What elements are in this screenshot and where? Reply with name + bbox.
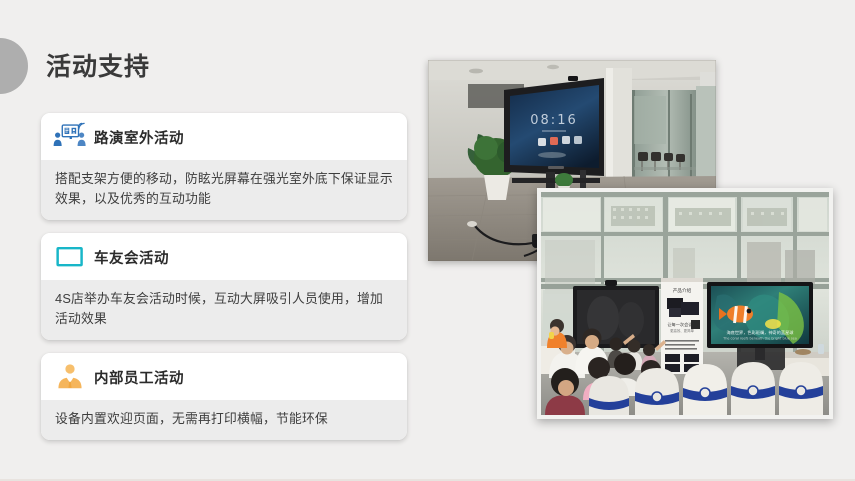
feature-card-body: 设备内置欢迎页面，无需再打印横幅，节能环保 [41,400,407,440]
left-edge-tab [0,38,28,94]
page-title: 活动支持 [46,50,150,84]
svg-text:海底世界，色彩斑斓，神奇的蓝星球: 海底世界，色彩斑斓，神奇的蓝星球 [726,329,794,336]
feature-card-header: 路演室外活动 [41,113,407,160]
feature-card-body: 搭配支架方便的移动，防眩光屏幕在强光室外底下保证显示效果，以及优秀的互动功能 [41,160,407,220]
svg-text:更高效、更简单: 更高效、更简单 [670,328,694,333]
svg-text:08:16: 08:16 [530,113,577,128]
feature-card-header: 车友会活动 [41,233,407,280]
slide-canvas: 活动支持 [0,0,855,481]
svg-text:The coral reefs beneath the br: The coral reefs beneath the bright blue … [722,337,797,341]
svg-text:产品介绍: 产品介绍 [673,287,692,294]
feature-card-title: 车友会活动 [94,247,169,268]
event-audience-photo: 产品介绍 让每一次会议都 更高效、更简单 [537,188,833,419]
feature-card-title: 内部员工活动 [94,367,184,388]
feature-card-body: 4S店举办车友会活动时候，互动大屏吸引人员使用，增加活动效果 [41,280,407,340]
feature-card[interactable]: 路演室外活动 搭配支架方便的移动，防眩光屏幕在强光室外底下保证显示效果，以及优秀… [41,113,407,220]
feature-card[interactable]: 车友会活动 4S店举办车友会活动时候，互动大屏吸引人员使用，增加活动效果 [41,233,407,340]
employee-person-icon [53,362,87,392]
feature-card-title: 路演室外活动 [94,127,184,148]
feature-card-header: 内部员工活动 [41,353,407,400]
screen-display-icon [53,242,87,272]
feature-card-list: 路演室外活动 搭配支架方便的移动，防眩光屏幕在强光室外底下保证显示效果，以及优秀… [41,113,407,453]
roadshow-presentation-icon [53,122,87,152]
feature-card[interactable]: 内部员工活动 设备内置欢迎页面，无需再打印横幅，节能环保 [41,353,407,440]
